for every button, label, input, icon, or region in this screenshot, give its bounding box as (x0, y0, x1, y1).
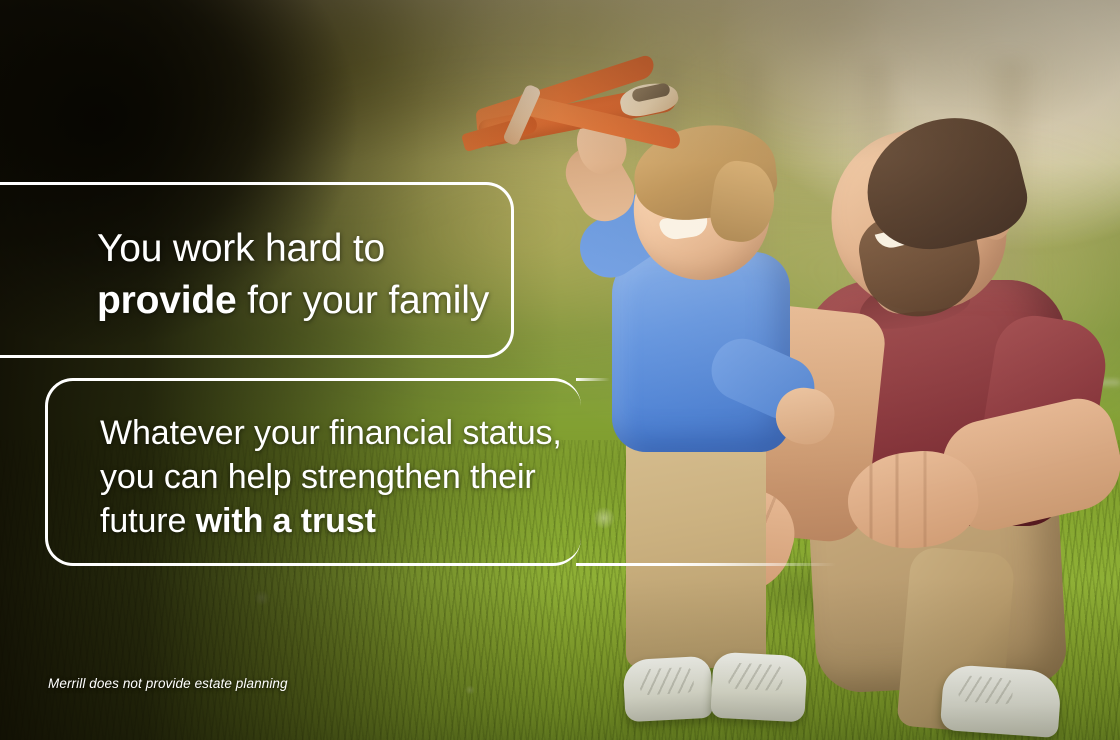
callout-box-secondary: Whatever your financial status, you can … (45, 378, 581, 566)
callout-secondary-top-stroke-extension (576, 378, 610, 381)
marketing-banner: You work hard to provide for your family… (0, 0, 1120, 740)
callout-secondary-emphasis: with a trust (196, 502, 376, 540)
callout-secondary-text: Whatever your financial status, you can … (100, 411, 562, 543)
callout-secondary-line-3-lead: future (100, 502, 196, 540)
callout-secondary-line-1: Whatever your financial status, (100, 411, 562, 455)
callout-box-primary: You work hard to provide for your family (0, 182, 514, 358)
callout-primary-text: You work hard to provide for your family (97, 223, 489, 327)
callout-secondary-bottom-stroke-extension (576, 563, 836, 566)
callout-primary-line-2: provide for your family (97, 275, 489, 327)
legal-disclaimer: Merrill does not provide estate planning (48, 676, 288, 691)
callout-layer: You work hard to provide for your family… (0, 0, 1120, 740)
callout-primary-emphasis: provide (97, 279, 236, 322)
callout-secondary-line-2: you can help strengthen their (100, 455, 562, 499)
callout-secondary-line-3: future with a trust (100, 499, 562, 543)
callout-primary-line-2-rest: for your family (236, 279, 489, 322)
callout-primary-line-1: You work hard to (97, 223, 489, 275)
